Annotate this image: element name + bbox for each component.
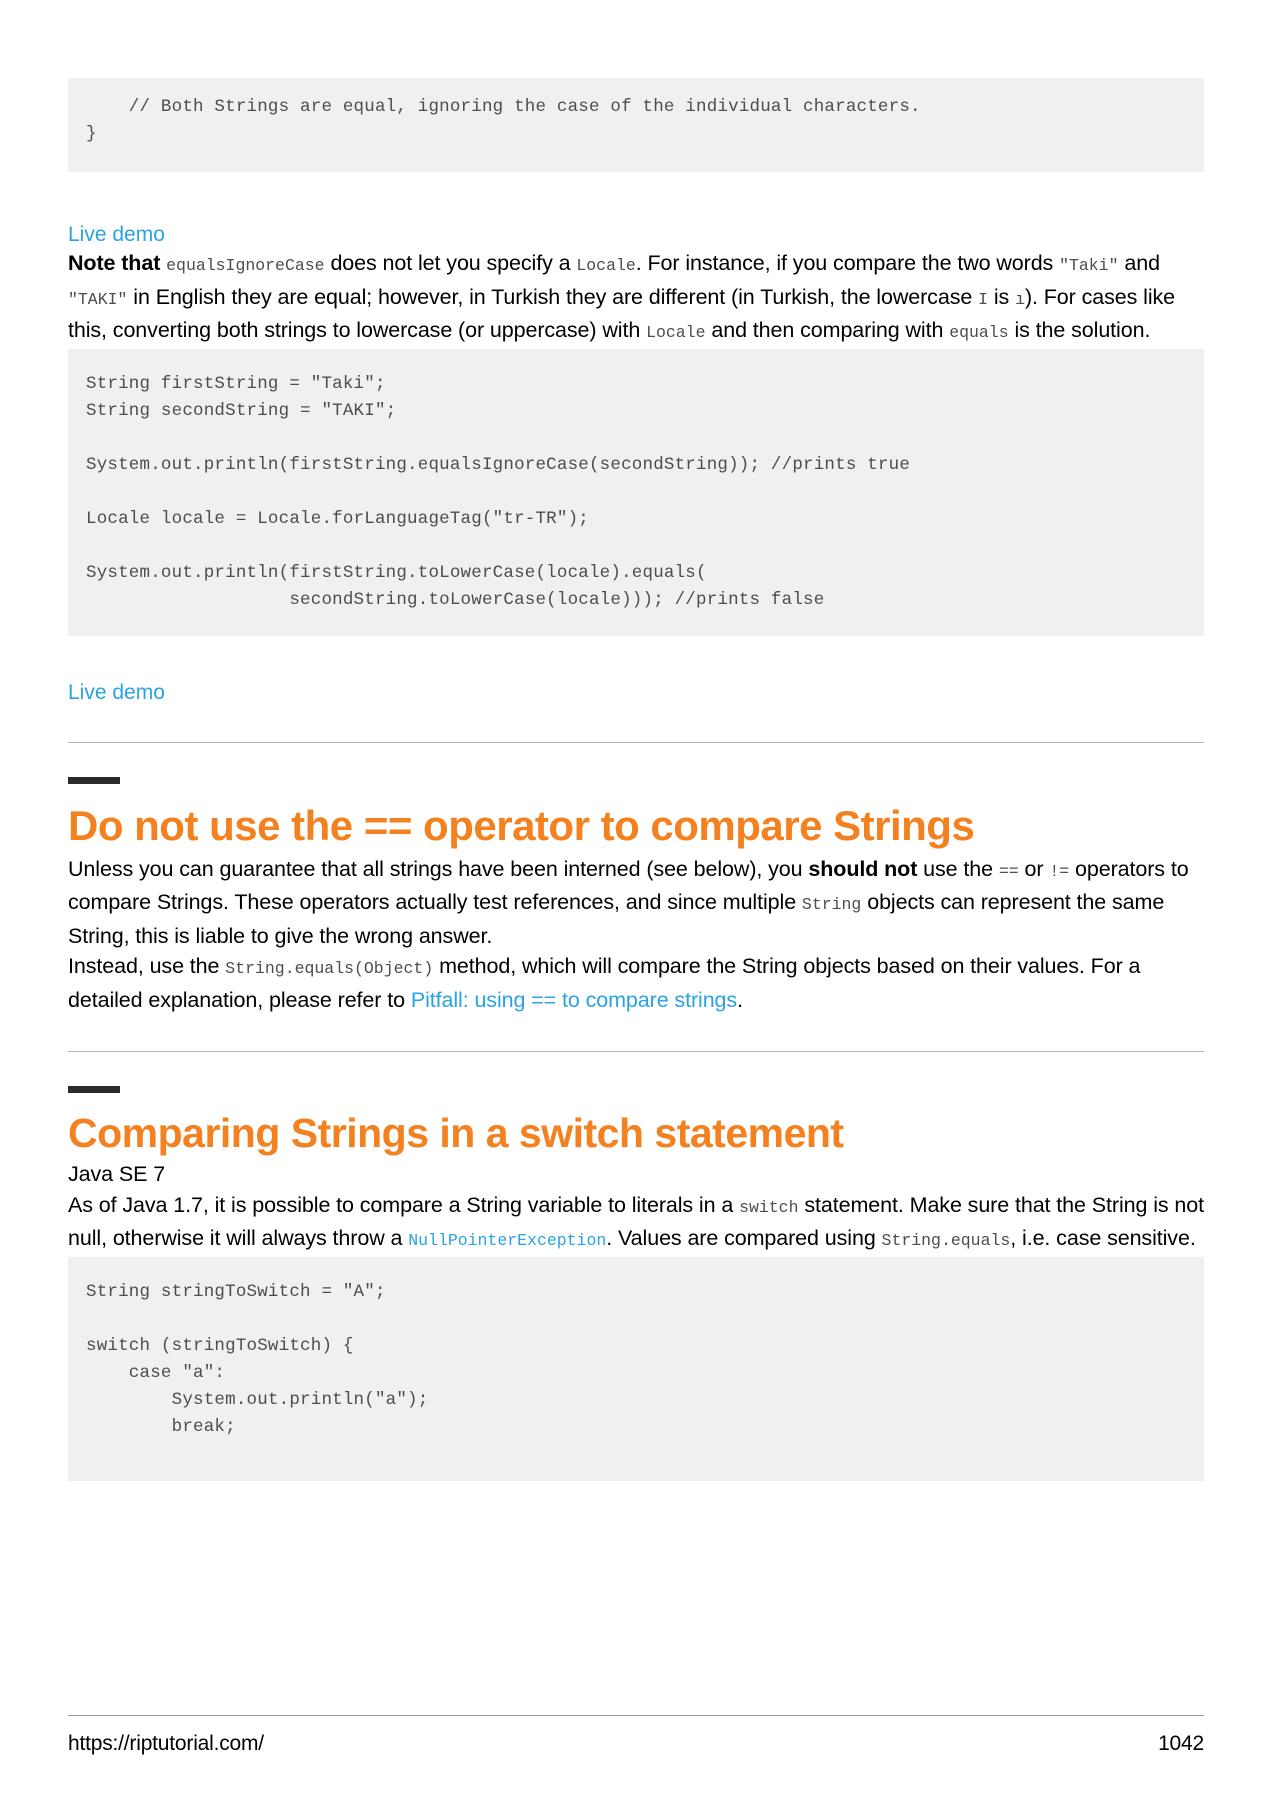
inline-code-i-upper: I: [978, 290, 988, 309]
s1p1-text-3: or: [1019, 857, 1050, 881]
page-content: // Both Strings are equal, ignoring the …: [68, 0, 1204, 1481]
document-page: // Both Strings are equal, ignoring the …: [0, 0, 1272, 1800]
footer-url: https://riptutorial.com/: [68, 1732, 264, 1756]
section-divider-2: [68, 1051, 1204, 1052]
section-divider-1: [68, 742, 1204, 743]
note-text-5: is: [988, 285, 1015, 309]
note-text-4: in English they are equal; however, in T…: [127, 285, 978, 309]
inline-code-switch: switch: [739, 1198, 798, 1217]
s1p1-text-2: use the: [917, 857, 999, 881]
inline-code-nullpointerexception[interactable]: NullPointerException: [408, 1231, 606, 1250]
s2p1-text-3: . Values are compared using: [606, 1226, 881, 1250]
java-version-label: Java SE 7: [68, 1159, 1204, 1190]
inline-code-taki-upper: "TAKI": [68, 290, 127, 309]
live-demo-link-1[interactable]: Live demo: [68, 222, 1204, 248]
note-text-3: and: [1119, 251, 1160, 275]
code-block-locale-comparison: String firstString = "Taki"; String seco…: [68, 349, 1204, 636]
code-block-equals-ignore-case: // Both Strings are equal, ignoring the …: [68, 78, 1204, 172]
note-text-8: is the solution.: [1009, 318, 1151, 342]
inline-code-locale-2: Locale: [646, 323, 705, 342]
note-text-1: does not let you specify a: [325, 251, 577, 275]
inline-code-string-equals-object: String.equals(Object): [225, 959, 433, 978]
code-block-switch-statement: String stringToSwitch = "A"; switch (str…: [68, 1257, 1204, 1481]
inline-code-string: String: [802, 895, 861, 914]
note-text-7: and then comparing with: [705, 318, 949, 342]
s2p1-text-1: As of Java 1.7, it is possible to compar…: [68, 1193, 739, 1217]
s1p1-strong-shouldnot: should not: [808, 857, 917, 881]
section1-paragraph-1: Unless you can guarantee that all string…: [68, 854, 1204, 952]
section-heading-operator-compare: Do not use the == operator to compare St…: [68, 798, 1204, 854]
heading-accent-bar-1: [68, 777, 120, 784]
live-demo-link-2[interactable]: Live demo: [68, 680, 1204, 706]
inline-code-noteq: !=: [1049, 862, 1069, 881]
inline-code-equalsignorecase: equalsIgnoreCase: [166, 256, 324, 275]
inline-code-string-equals: String.equals: [882, 1231, 1011, 1250]
s2p1-text-4: , i.e. case sensitive.: [1010, 1226, 1195, 1250]
note-text-2: . For instance, if you compare the two w…: [636, 251, 1059, 275]
inline-code-eqeq: ==: [999, 862, 1019, 881]
heading-accent-bar-2: [68, 1086, 120, 1093]
footer-page-number: 1042: [1158, 1732, 1204, 1756]
s1p1-text-1: Unless you can guarantee that all string…: [68, 857, 808, 881]
s1p2-text-3: .: [737, 988, 743, 1012]
note-strong-lead: Note that: [68, 251, 160, 275]
s1p2-text-1: Instead, use the: [68, 954, 225, 978]
section1-paragraph-2: Instead, use the String.equals(Object) m…: [68, 951, 1204, 1015]
footer-row: https://riptutorial.com/ 1042: [68, 1732, 1204, 1756]
page-footer: https://riptutorial.com/ 1042: [68, 1715, 1204, 1756]
footer-divider: [68, 1715, 1204, 1716]
inline-code-taki: "Taki": [1059, 256, 1118, 275]
pitfall-link[interactable]: Pitfall: using == to compare strings: [411, 988, 737, 1012]
note-paragraph: Note that equalsIgnoreCase does not let …: [68, 248, 1204, 349]
inline-code-dotless-i: ı: [1015, 290, 1025, 309]
section2-paragraph-1: As of Java 1.7, it is possible to compar…: [68, 1190, 1204, 1257]
section-heading-switch-statement: Comparing Strings in a switch statement: [68, 1107, 1204, 1159]
inline-code-locale-1: Locale: [576, 256, 635, 275]
inline-code-equals: equals: [949, 323, 1008, 342]
